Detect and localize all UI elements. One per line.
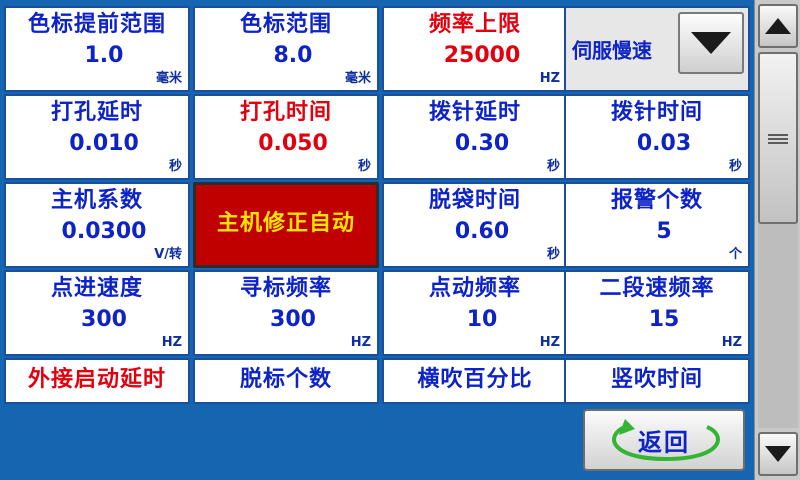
triangle-down-icon (765, 446, 791, 462)
cell-frequency-upper-limit[interactable]: 频率上限 25000 HZ (382, 6, 568, 92)
cell-external-start-delay[interactable]: 外接启动延时 (4, 358, 190, 404)
cell-value: 300 (195, 307, 377, 333)
cell-host-coefficient[interactable]: 主机系数 0.0300 V/转 (4, 182, 190, 268)
cell-second-stage-speed-frequency[interactable]: 二段速频率 15 HZ (564, 270, 750, 356)
cell-needle-pull-time[interactable]: 拨针时间 0.03 秒 (564, 94, 750, 180)
cell-title: 色标范围 (195, 12, 377, 38)
cell-unit: HZ (540, 335, 560, 350)
cell-mark-search-frequency[interactable]: 寻标频率 300 HZ (193, 270, 379, 356)
cell-bag-release-time[interactable]: 脱袋时间 0.60 秒 (382, 182, 568, 268)
cell-title: 点进速度 (6, 276, 188, 302)
chevron-down-icon (691, 32, 731, 54)
dropdown-label: 伺服慢速 (572, 35, 652, 64)
scrollbar-thumb[interactable] (758, 52, 798, 224)
vertical-scrollbar[interactable] (754, 0, 800, 480)
cell-mark-release-count[interactable]: 脱标个数 (193, 358, 379, 404)
cell-horizontal-blow-percentage[interactable]: 横吹百分比 (382, 358, 568, 404)
cell-unit: V/转 (154, 243, 182, 262)
scrollbar-track[interactable] (758, 52, 798, 428)
cell-alarm-count[interactable]: 报警个数 5 个 (564, 182, 750, 268)
cell-title: 打孔时间 (195, 100, 377, 126)
grip-icon (768, 132, 788, 144)
cell-value: 0.30 (384, 131, 566, 157)
cell-value: 25000 (384, 43, 566, 69)
cell-unit: HZ (351, 335, 371, 350)
cell-title: 频率上限 (384, 12, 566, 38)
cell-unit: 秒 (169, 155, 182, 174)
cell-unit: 秒 (547, 155, 560, 174)
cell-punch-time[interactable]: 打孔时间 0.050 秒 (193, 94, 379, 180)
cell-unit: HZ (540, 71, 560, 86)
cell-value: 0.03 (566, 131, 748, 157)
cell-unit: 个 (729, 243, 742, 262)
cell-color-mark-advance-range[interactable]: 色标提前范围 1.0 毫米 (4, 6, 190, 92)
cell-title: 外接启动延时 (6, 367, 188, 393)
return-button[interactable]: 返回 (583, 409, 745, 471)
cell-title: 拨针延时 (384, 100, 566, 126)
cell-title: 寻标频率 (195, 276, 377, 302)
cell-title: 打孔延时 (6, 100, 188, 126)
cell-unit: 毫米 (345, 67, 371, 86)
cell-unit: 秒 (358, 155, 371, 174)
cell-title: 竖吹时间 (566, 367, 748, 393)
cell-value: 0.60 (384, 219, 566, 245)
cell-unit: 秒 (547, 243, 560, 262)
cell-title: 横吹百分比 (384, 367, 566, 393)
cell-value: 15 (566, 307, 748, 333)
cell-host-auto-correction[interactable]: 主机修正自动 (193, 182, 379, 268)
cell-value: 10 (384, 307, 566, 333)
cell-value: 5 (566, 219, 748, 245)
hmi-screen: 色标提前范围 1.0 毫米 色标范围 8.0 毫米 频率上限 25000 HZ … (0, 0, 800, 480)
cell-title: 点动频率 (384, 276, 566, 302)
cell-title: 色标提前范围 (6, 12, 188, 38)
dropdown-toggle-button[interactable] (678, 12, 744, 74)
cell-value: 1.0 (6, 43, 188, 69)
cell-title: 脱袋时间 (384, 188, 566, 214)
cell-value: 8.0 (195, 43, 377, 69)
cell-title: 报警个数 (566, 188, 748, 214)
cell-title: 拨针时间 (566, 100, 748, 126)
cell-value: 0.0300 (6, 219, 188, 245)
cell-needle-pull-delay[interactable]: 拨针延时 0.30 秒 (382, 94, 568, 180)
cell-value: 0.050 (195, 131, 377, 157)
return-button-label: 返回 (585, 423, 743, 458)
cell-title: 主机系数 (6, 188, 188, 214)
cell-title: 脱标个数 (195, 367, 377, 393)
cell-color-mark-range[interactable]: 色标范围 8.0 毫米 (193, 6, 379, 92)
cell-jog-speed[interactable]: 点进速度 300 HZ (4, 270, 190, 356)
cell-vertical-blow-time[interactable]: 竖吹时间 (564, 358, 750, 404)
cell-jog-frequency[interactable]: 点动频率 10 HZ (382, 270, 568, 356)
triangle-up-icon (765, 18, 791, 34)
cell-title: 二段速频率 (566, 276, 748, 302)
scroll-down-button[interactable] (758, 432, 798, 476)
cell-servo-slow-speed-dropdown[interactable]: 伺服慢速 (564, 6, 750, 92)
cell-value: 300 (6, 307, 188, 333)
cell-unit: 秒 (729, 155, 742, 174)
parameter-grid: 色标提前范围 1.0 毫米 色标范围 8.0 毫米 频率上限 25000 HZ … (4, 6, 750, 396)
cell-punch-delay[interactable]: 打孔延时 0.010 秒 (4, 94, 190, 180)
cell-title: 主机修正自动 (196, 211, 376, 237)
cell-unit: HZ (722, 335, 742, 350)
cell-value: 0.010 (6, 131, 188, 157)
scroll-up-button[interactable] (758, 4, 798, 48)
cell-unit: 毫米 (156, 67, 182, 86)
cell-unit: HZ (162, 335, 182, 350)
